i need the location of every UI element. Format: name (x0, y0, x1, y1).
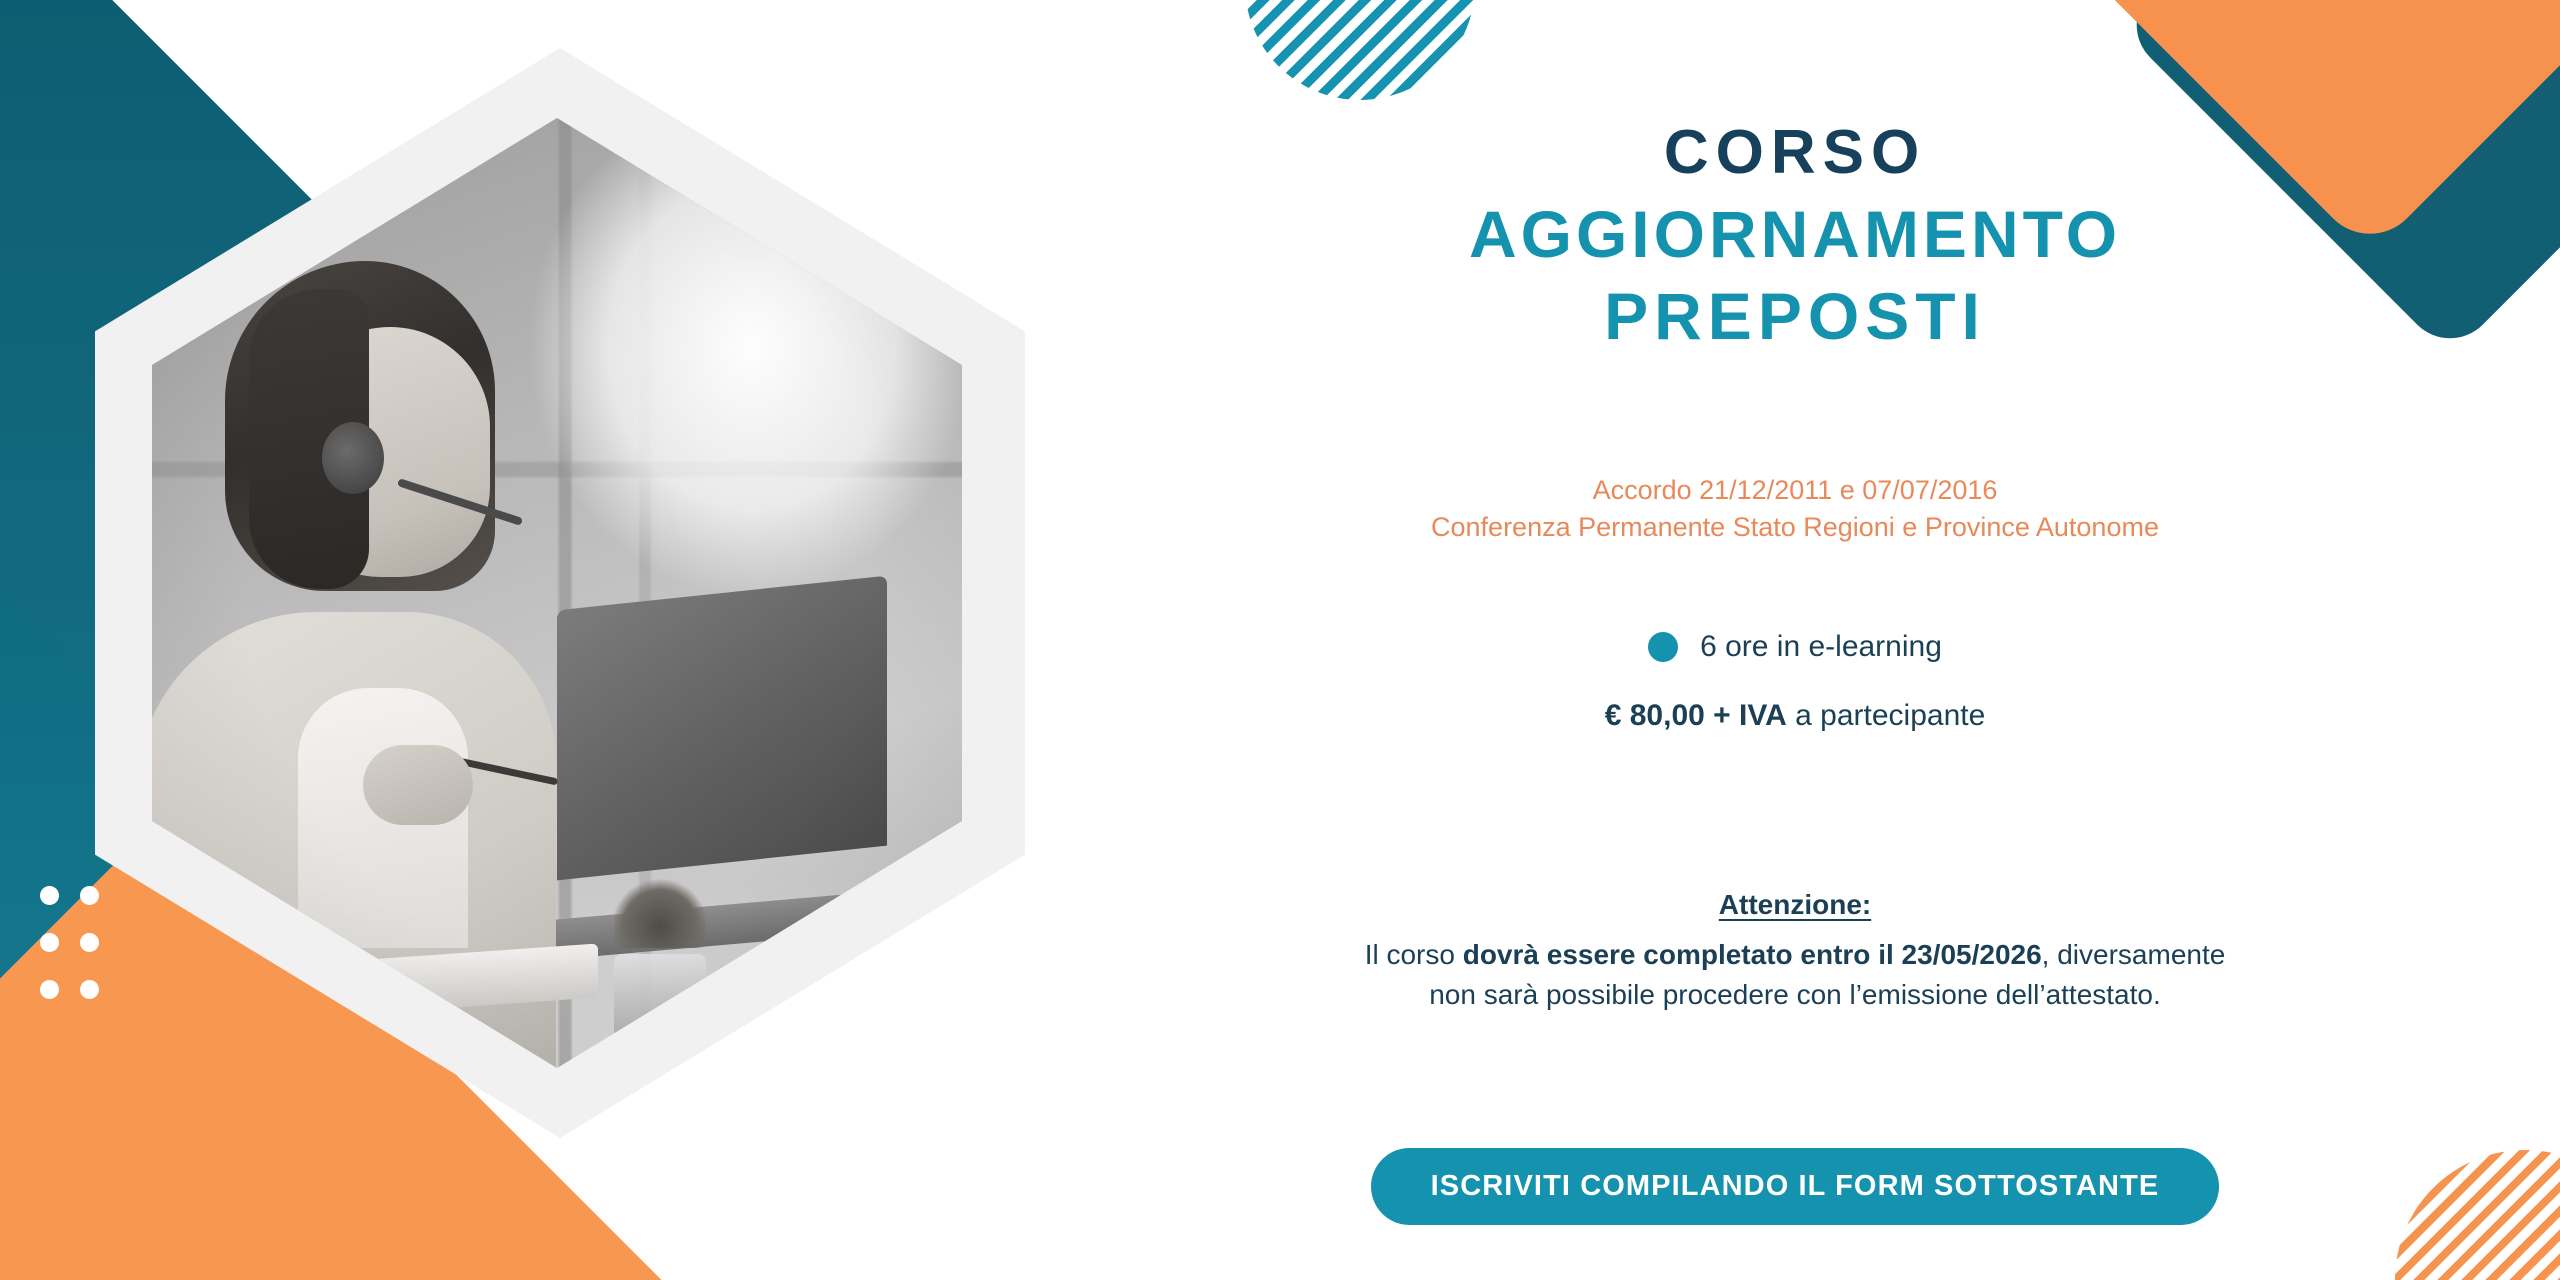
notice-line-1: Il corso dovrà essere completato entro i… (1115, 935, 2475, 976)
dot-grid-decoration (40, 886, 120, 1027)
notice-text-before: Il corso (1365, 939, 1463, 970)
bullet-dot-icon (1648, 632, 1678, 662)
dot (80, 980, 99, 999)
title-line-preposti: PREPOSTI (1115, 282, 2475, 352)
title-line-corso: CORSO (1115, 120, 2475, 186)
page-title: CORSO AGGIORNAMENTO PREPOSTI (1115, 120, 2475, 352)
course-duration-label: 6 ore in e-learning (1700, 630, 1942, 664)
deadline-notice: Attenzione: Il corso dovrà essere comple… (1115, 885, 2475, 1016)
subtitle-line-2: Conferenza Permanente Stato Regioni e Pr… (1115, 509, 2475, 546)
course-facts: 6 ore in e-learning € 80,00 + IVA a part… (1115, 630, 2475, 733)
enroll-button[interactable]: ISCRIVITI COMPILANDO IL FORM SOTTOSTANTE (1371, 1148, 2220, 1225)
dot (40, 980, 59, 999)
course-price: € 80,00 + IVA a partecipante (1115, 699, 2475, 733)
course-price-amount: € 80,00 + IVA (1605, 699, 1787, 732)
dot (40, 933, 59, 952)
dot (40, 886, 59, 905)
notice-text-after: , diversamente (2042, 939, 2226, 970)
subtitle-line-1: Accordo 21/12/2011 e 07/07/2016 (1115, 472, 2475, 509)
notice-deadline: dovrà essere completato entro il 23/05/2… (1463, 939, 2042, 970)
course-price-suffix: a partecipante (1787, 699, 1985, 732)
title-line-aggiornamento: AGGIORNAMENTO (1115, 200, 2475, 270)
cta-container: ISCRIVITI COMPILANDO IL FORM SOTTOSTANTE (1115, 1148, 2475, 1225)
notice-heading: Attenzione: (1115, 885, 2475, 926)
dot (80, 933, 99, 952)
course-duration: 6 ore in e-learning (1115, 630, 2475, 664)
subtitle: Accordo 21/12/2011 e 07/07/2016 Conferen… (1115, 472, 2475, 547)
course-promo-banner: CORSO AGGIORNAMENTO PREPOSTI Accordo 21/… (0, 0, 2560, 1280)
notice-line-2: non sarà possibile procedere con l’emiss… (1115, 975, 2475, 1016)
dot (80, 886, 99, 905)
content-column: CORSO AGGIORNAMENTO PREPOSTI Accordo 21/… (1115, 0, 2475, 1280)
